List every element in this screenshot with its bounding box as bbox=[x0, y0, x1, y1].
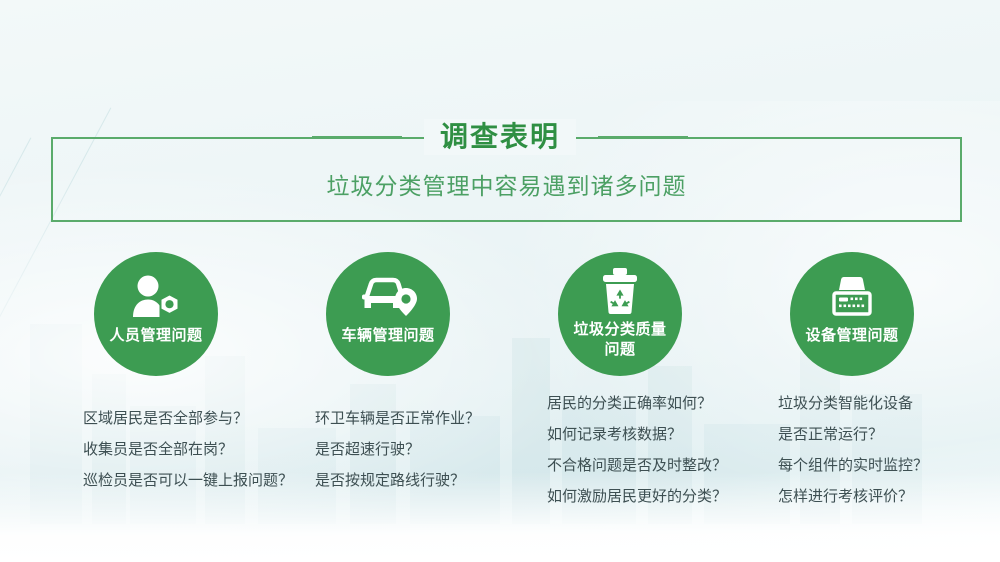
circle-badge-sorting-quality[interactable]: 垃圾分类质量问题 bbox=[558, 252, 682, 376]
list-item: 居民的分类正确率如何？ bbox=[547, 388, 736, 419]
device-panel-icon bbox=[827, 274, 877, 320]
list-item: 每个组件的实时监控？ bbox=[778, 450, 968, 481]
list-item: 是否超速行驶？ bbox=[315, 434, 504, 465]
circle-label-equipment: 设备管理问题 bbox=[798, 326, 906, 346]
circle-badge-equipment[interactable]: 设备管理问题 bbox=[790, 252, 914, 376]
problem-columns: 人员管理问题 区域居民是否全部参与？ 收集员是否全部在岗？ 巡检员是否可以一键上… bbox=[40, 252, 970, 512]
question-list-equipment: 垃圾分类智能化设备 是否正常运行？ 每个组件的实时监控？ 怎样进行考核评价？ bbox=[778, 388, 968, 512]
circle-label-personnel: 人员管理问题 bbox=[102, 326, 210, 346]
list-item: 巡检员是否可以一键上报问题？ bbox=[83, 465, 272, 496]
list-item: 环卫车辆是否正常作业？ bbox=[315, 403, 504, 434]
title-rule-right bbox=[598, 136, 688, 138]
person-gear-icon bbox=[129, 274, 183, 320]
title-rule-left bbox=[312, 136, 402, 138]
title-row: 调查表明 bbox=[0, 111, 1000, 163]
column-personnel-management: 人员管理问题 区域居民是否全部参与？ 收集员是否全部在岗？ 巡检员是否可以一键上… bbox=[40, 252, 272, 512]
circle-badge-vehicle[interactable]: 车辆管理问题 bbox=[326, 252, 450, 376]
car-location-pin-icon bbox=[359, 274, 417, 320]
list-item: 收集员是否全部在岗？ bbox=[83, 434, 272, 465]
circle-label-sorting-quality: 垃圾分类质量问题 bbox=[566, 320, 674, 360]
slide-canvas: 调查表明 垃圾分类管理中容易遇到诸多问题 人员管理问题 区域居民是否全部参与？ bbox=[0, 0, 1000, 562]
circle-label-vehicle: 车辆管理问题 bbox=[334, 326, 442, 346]
circle-badge-personnel[interactable]: 人员管理问题 bbox=[94, 252, 218, 376]
list-item: 如何激励居民更好的分类？ bbox=[547, 481, 736, 512]
question-list-vehicle: 环卫车辆是否正常作业？ 是否超速行驶？ 是否按规定路线行驶？ bbox=[315, 403, 504, 496]
list-item: 怎样进行考核评价？ bbox=[778, 481, 968, 512]
question-list-sorting-quality: 居民的分类正确率如何？ 如何记录考核数据？ 不合格问题是否及时整改？ 如何激励居… bbox=[547, 388, 736, 512]
list-item: 是否按规定路线行驶？ bbox=[315, 465, 504, 496]
list-item: 不合格问题是否及时整改？ bbox=[547, 450, 736, 481]
question-list-personnel: 区域居民是否全部参与？ 收集员是否全部在岗？ 巡检员是否可以一键上报问题？ bbox=[83, 403, 272, 496]
list-item: 区域居民是否全部参与？ bbox=[83, 403, 272, 434]
page-subtitle: 垃圾分类管理中容易遇到诸多问题 bbox=[51, 167, 962, 201]
recycle-bin-icon bbox=[600, 268, 640, 314]
column-sorting-quality: 垃圾分类质量问题 居民的分类正确率如何？ 如何记录考核数据？ 不合格问题是否及时… bbox=[504, 252, 736, 512]
list-item: 垃圾分类智能化设备 bbox=[778, 388, 968, 419]
list-item: 是否正常运行？ bbox=[778, 419, 968, 450]
column-equipment-management: 设备管理问题 垃圾分类智能化设备 是否正常运行？ 每个组件的实时监控？ 怎样进行… bbox=[736, 252, 968, 512]
page-title: 调查表明 bbox=[424, 119, 576, 155]
list-item: 如何记录考核数据？ bbox=[547, 419, 736, 450]
column-vehicle-management: 车辆管理问题 环卫车辆是否正常作业？ 是否超速行驶？ 是否按规定路线行驶？ bbox=[272, 252, 504, 512]
